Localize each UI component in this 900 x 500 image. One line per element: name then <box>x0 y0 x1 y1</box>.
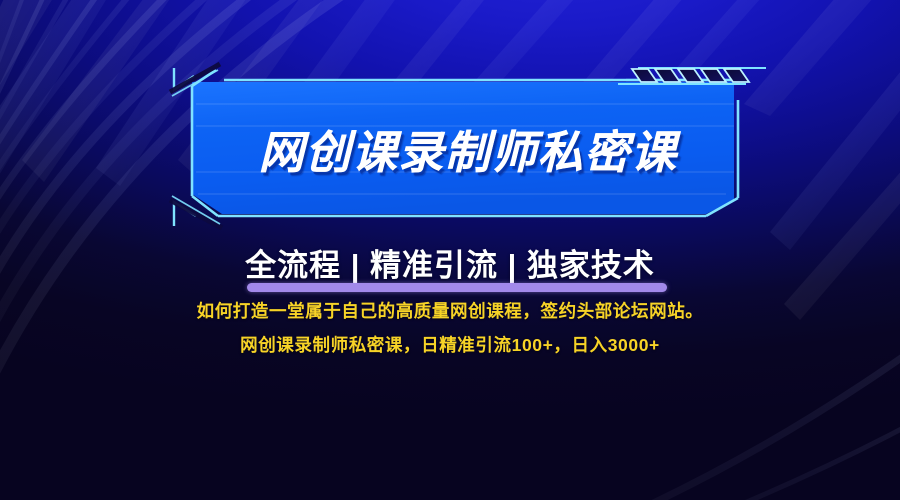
title-banner: 网创课录制师私密课 <box>186 74 742 222</box>
promo-poster: 网创课录制师私密课 全流程 | 精准引流 | 独家技术 如何打造一堂属于自己的高… <box>0 0 900 500</box>
subtitle-block: 全流程 | 精准引流 | 独家技术 <box>0 240 900 292</box>
banner-title-text: 网创课录制师私密课 <box>186 74 742 222</box>
subtitle-underline <box>247 283 667 292</box>
body-line-2: 网创课录制师私密课，日精准引流100+，日入3000+ <box>0 337 900 355</box>
body-line-1: 如何打造一堂属于自己的高质量网创课程，签约头部论坛网站。 <box>0 303 900 321</box>
body-block: 如何打造一堂属于自己的高质量网创课程，签约头部论坛网站。 网创课录制师私密课，日… <box>0 303 900 354</box>
